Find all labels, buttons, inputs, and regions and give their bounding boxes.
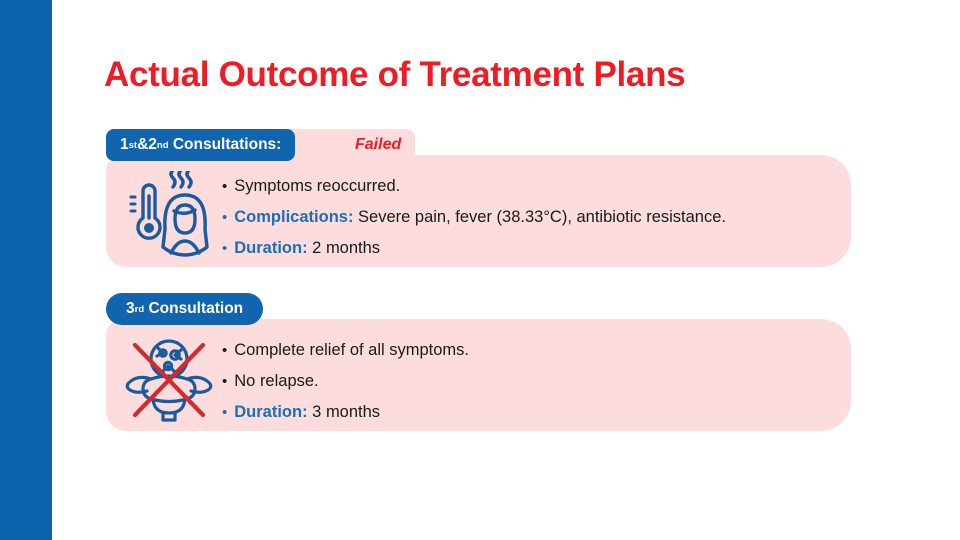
list-item-label: Duration: [234,403,307,421]
section-1-ordinal-2: 2 [148,136,157,154]
section-1-badge-label: Consultations: [173,136,282,154]
list-item-text: Severe pain, fever (38.33°C), antibiotic… [353,208,726,226]
no-infection-icon [116,331,222,423]
list-item-label: Duration: [234,239,307,257]
section-1-amp: & [137,136,148,154]
status-badge-label: Failed [355,136,401,154]
page-title: Actual Outcome of Treatment Plans [104,55,685,95]
consultation-section-2: 3rd Consultation [106,293,851,431]
section-2-card: •Complete relief of all symptoms. •No re… [106,319,851,431]
list-item-text: 2 months [308,239,380,257]
left-accent-bar [0,0,52,540]
bullet-glyph: • [222,240,227,257]
consultation-section-1: 1st & 2nd Consultations: [106,129,851,267]
section-2-badge[interactable]: 3rd Consultation [106,293,263,325]
section-1-sup-1: st [129,140,137,151]
slide-root: Actual Outcome of Treatment Plans Failed… [0,0,960,540]
fever-patient-icon [116,167,222,259]
section-2-badge-label: Consultation [148,300,243,318]
list-item: •Duration: 2 months [222,233,833,264]
list-item: •Duration: 3 months [222,397,833,428]
list-item-label: Complications: [234,208,353,226]
bullet-glyph: • [222,342,227,359]
list-item-text: Complete relief of all symptoms. [234,341,469,359]
section-1-badge[interactable]: 1st & 2nd Consultations: [106,129,295,161]
section-1-card: •Symptoms reoccurred. •Complications: Se… [106,155,851,267]
bullet-glyph: • [222,373,227,390]
list-item-text: 3 months [308,403,380,421]
section-1-bullet-list: •Symptoms reoccurred. •Complications: Se… [222,167,833,264]
bullet-glyph: • [222,209,227,226]
section-1-ordinal-1: 1 [120,136,129,154]
list-item: •Complications: Severe pain, fever (38.3… [222,202,833,233]
bullet-glyph: • [222,178,227,195]
section-2-bullet-list: •Complete relief of all symptoms. •No re… [222,331,833,428]
section-2-sup: rd [135,304,145,315]
bullet-glyph: • [222,404,227,421]
section-2-ordinal: 3 [126,300,135,318]
list-item-text: No relapse. [234,372,318,390]
list-item: •No relapse. [222,366,833,397]
list-item: •Symptoms reoccurred. [222,171,833,202]
list-item-text: Symptoms reoccurred. [234,177,400,195]
list-item: •Complete relief of all symptoms. [222,335,833,366]
section-1-sup-2: nd [157,140,169,151]
